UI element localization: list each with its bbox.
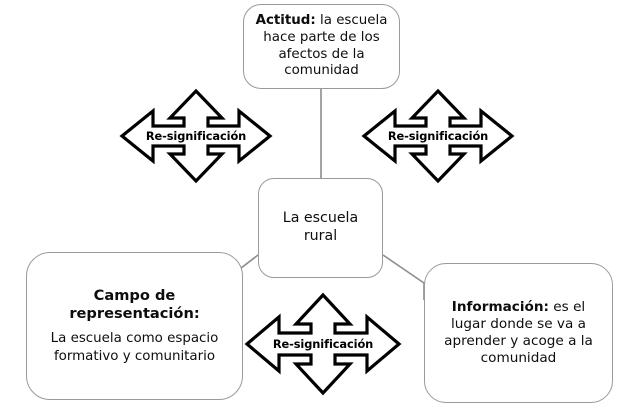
node-escuela-rural-line1: La escuela [283, 210, 358, 228]
node-actitud-text: Actitud: la escuela hace parte de los af… [252, 13, 391, 81]
node-campo-body-line1: La escuela como espacio [51, 331, 219, 346]
node-campo-title-line2: representación: [69, 305, 199, 322]
node-campo-representacion[interactable]: Campo de representación: La escuela como… [26, 252, 243, 400]
node-informacion[interactable]: Información: es el lugar donde se va a a… [424, 263, 613, 403]
quad-arrow-shape [122, 91, 270, 181]
node-escuela-rural[interactable]: La escuela rural [258, 178, 383, 278]
node-campo-title: Campo de representación: [69, 287, 199, 324]
quad-arrow-icon-left[interactable]: Re-significación [118, 88, 274, 184]
node-informacion-text: Información: es el lugar donde se va a a… [435, 299, 602, 368]
diagram-canvas: Actitud: la escuela hace parte de los af… [0, 0, 624, 416]
node-campo-title-line1: Campo de [94, 287, 176, 304]
node-informacion-lead: Información: [452, 299, 549, 315]
node-actitud-lead: Actitud: [256, 13, 316, 28]
node-campo-body: La escuela como espacio formativo y comu… [51, 330, 219, 365]
node-actitud[interactable]: Actitud: la escuela hace parte de los af… [243, 4, 400, 89]
quad-arrow-shape [364, 91, 512, 181]
quad-arrow-shape [247, 295, 399, 393]
quad-arrow-icon-right[interactable]: Re-significación [360, 88, 516, 184]
node-escuela-rural-line2: rural [304, 228, 337, 246]
node-campo-body-line2: formativo y comunitario [54, 349, 215, 364]
quad-arrow-icon-bottom[interactable]: Re-significación [243, 292, 403, 396]
